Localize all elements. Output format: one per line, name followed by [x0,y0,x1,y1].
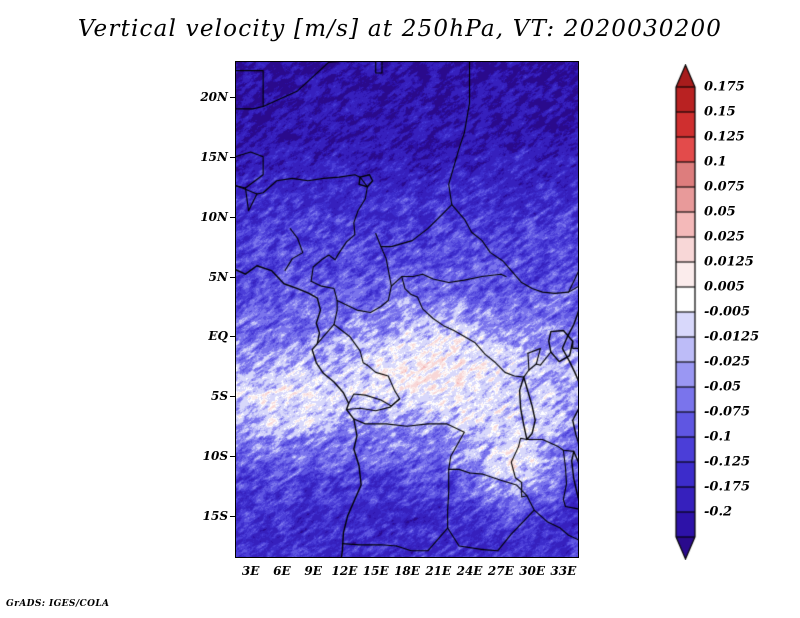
y-axis-tick-mark [230,157,235,158]
x-axis-tick-label: 6E [273,564,291,578]
x-axis-tick-label: 24E [457,564,483,578]
colorbar-gradient [674,64,698,560]
y-axis-tick-mark [230,516,235,517]
y-axis-tick-mark [230,336,235,337]
x-axis-tick-label: 21E [425,564,451,578]
y-axis-tick-mark [230,396,235,397]
y-axis-tick-label: 15N [198,150,228,164]
y-axis-tick-mark [230,456,235,457]
map-plot-area [235,61,579,558]
x-axis-tick-label: 12E [332,564,358,578]
colorbar-tick-label: 0.005 [704,280,745,295]
page-title: Vertical velocity [m/s] at 250hPa, VT: 2… [0,16,800,42]
y-axis-tick-label: 15S [198,509,228,523]
colorbar-tick-label: 0.175 [704,80,745,95]
x-axis-tick-label: 27E [488,564,514,578]
y-axis-tick-mark [230,217,235,218]
colorbar-tick-label: 0.075 [704,180,745,195]
y-axis-tick-label: 10S [198,449,228,463]
y-axis-tick-label: 10N [198,210,228,224]
colorbar: 0.1750.150.1250.10.0750.050.0250.01250.0… [674,64,798,560]
colorbar-tick-label: -0.075 [704,405,750,420]
colorbar-tick-label: -0.2 [704,505,732,520]
colorbar-tick-label: 0.025 [704,230,745,245]
vertical-velocity-heatmap [235,61,579,558]
y-axis-tick-label: EQ [198,329,228,343]
colorbar-tick-label: 0.125 [704,130,745,145]
y-axis-tick-label: 5N [198,270,228,284]
x-axis-tick-label: 30E [519,564,545,578]
grads-credit: GrADS: IGES/COLA [6,599,109,609]
x-axis-tick-label: 33E [550,564,576,578]
y-axis-tick-mark [230,277,235,278]
x-axis-tick-label: 3E [242,564,260,578]
x-axis-tick-label: 9E [304,564,322,578]
y-axis-tick-label: 5S [198,389,228,403]
y-axis-tick-label: 20N [198,90,228,104]
x-axis-tick-label: 18E [394,564,420,578]
colorbar-tick-label: -0.025 [704,355,750,370]
colorbar-tick-label: -0.0125 [704,330,759,345]
y-axis-tick-mark [230,97,235,98]
colorbar-tick-label: 0.05 [704,205,736,220]
colorbar-tick-label: -0.175 [704,480,750,495]
colorbar-tick-label: 0.15 [704,105,736,120]
colorbar-tick-label: -0.05 [704,380,741,395]
colorbar-tick-label: 0.1 [704,155,727,170]
colorbar-tick-label: -0.1 [704,430,732,445]
colorbar-tick-label: -0.005 [704,305,750,320]
x-axis-tick-label: 15E [363,564,389,578]
colorbar-tick-label: -0.125 [704,455,750,470]
colorbar-tick-label: 0.0125 [704,255,754,270]
